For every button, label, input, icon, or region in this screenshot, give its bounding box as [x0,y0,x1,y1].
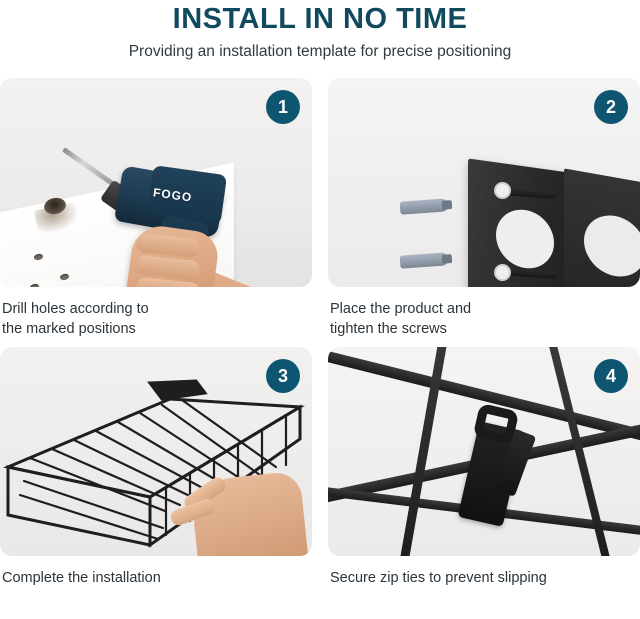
washer-icon [494,264,511,281]
step-2-caption: Place the product and tighten the screws [328,299,640,339]
step-badge-1: 1 [266,90,300,124]
step-3-photo: 3 [0,347,312,556]
step-4-caption-line-1: Secure zip ties to prevent slipping [330,568,640,588]
step-2-caption-line-1: Place the product and [330,299,640,319]
page-subtitle: Providing an installation template for p… [0,42,640,61]
wall-anchor-icon [400,252,449,268]
step-3-caption: Complete the installation [0,568,312,608]
step-card-2: 2 Place the product and tighten the scre… [328,78,640,339]
step-4-photo: 4 [328,347,640,556]
step-card-3: 3 Complete the installation [0,347,312,608]
step-badge-2: 2 [594,90,628,124]
step-4-caption: Secure zip ties to prevent slipping [328,568,640,608]
drill-bit-icon [62,147,114,186]
step-badge-4: 4 [594,359,628,393]
step-1-caption-line-2: the marked positions [2,319,312,339]
install-guide-page: INSTALL IN NO TIME Providing an installa… [0,0,640,619]
washer-icon [494,182,511,199]
header: INSTALL IN NO TIME Providing an installa… [0,0,640,61]
page-title: INSTALL IN NO TIME [0,2,640,36]
wall-anchor-icon [400,198,449,214]
step-badge-3: 3 [266,359,300,393]
step-1-caption: Drill holes according to the marked posi… [0,299,312,339]
step-card-4: 4 Secure zip ties to prevent slipping [328,347,640,608]
step-2-photo: 2 [328,78,640,287]
step-1-photo: FOGO 1 [0,78,312,287]
steps-grid: FOGO 1 Drill holes according to the mark… [0,78,640,608]
step-card-1: FOGO 1 Drill holes according to the mark… [0,78,312,339]
step-2-caption-line-2: tighten the screws [330,319,640,339]
step-3-caption-line-1: Complete the installation [2,568,312,588]
step-1-caption-line-1: Drill holes according to [2,299,312,319]
